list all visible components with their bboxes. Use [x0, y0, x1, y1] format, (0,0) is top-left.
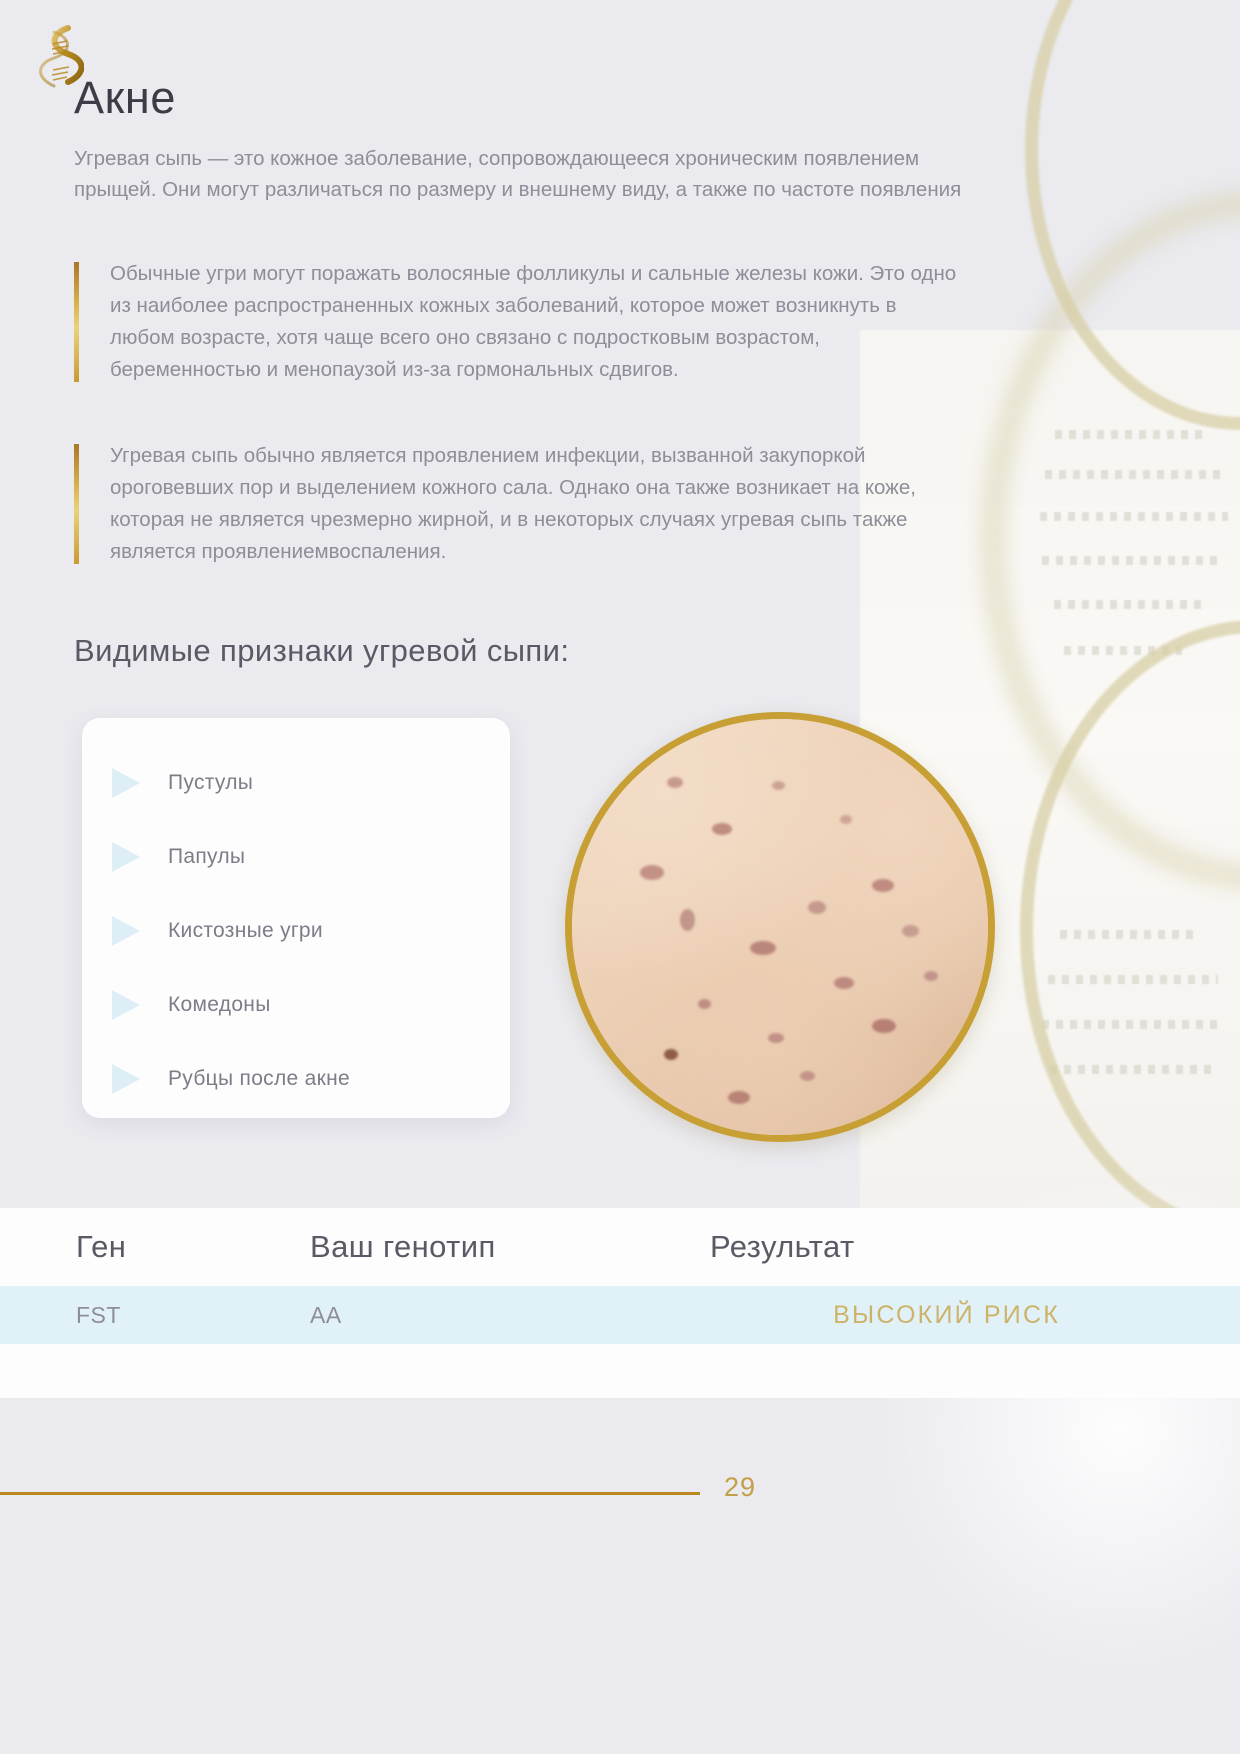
signs-list-card: Пустулы Папулы Кистозные угри Комедоны Р… [82, 718, 510, 1118]
list-item-label: Комедоны [168, 993, 271, 1017]
cell-gene: FST [0, 1302, 310, 1329]
footer-divider [0, 1492, 700, 1495]
list-item[interactable]: Пустулы [82, 746, 510, 820]
list-item-label: Папулы [168, 845, 245, 869]
intro-paragraph: Угревая сыпь — это кожное заболевание, с… [74, 143, 964, 205]
triangle-right-icon [112, 990, 140, 1020]
report-page: Акне Угревая сыпь — это кожное заболеван… [0, 0, 1240, 1754]
column-header-gene: Ген [0, 1229, 310, 1265]
result-table: Ген Ваш генотип Результат FST AA ВЫСОКИЙ… [0, 1208, 1240, 1398]
list-item-label: Пустулы [168, 771, 253, 795]
column-header-result: Результат [710, 1229, 1240, 1265]
table-bottom-band [0, 1344, 1240, 1398]
list-item[interactable]: Комедоны [82, 968, 510, 1042]
triangle-right-icon [112, 842, 140, 872]
status-badge: ВЫСОКИЙ РИСК [710, 1301, 1240, 1330]
list-item[interactable]: Папулы [82, 820, 510, 894]
table-header-row: Ген Ваш генотип Результат [0, 1208, 1240, 1286]
list-item-label: Кистозные угри [168, 919, 323, 943]
quote-block-1: Обычные угри могут поражать волосяные фо… [74, 258, 964, 386]
list-item[interactable]: Кистозные угри [82, 894, 510, 968]
quote-block-2: Угревая сыпь обычно является проявлением… [74, 440, 964, 568]
acne-skin-photo [565, 712, 995, 1142]
triangle-right-icon [112, 768, 140, 798]
table-row: FST AA ВЫСОКИЙ РИСК [0, 1286, 1240, 1344]
page-number: 29 [724, 1472, 756, 1503]
column-header-genotype: Ваш генотип [310, 1229, 710, 1265]
triangle-right-icon [112, 916, 140, 946]
list-item[interactable]: Рубцы после акне [82, 1042, 510, 1116]
signs-section-heading: Видимые признаки угревой сыпи: [74, 633, 569, 669]
page-title: Акне [74, 72, 176, 124]
triangle-right-icon [112, 1064, 140, 1094]
cell-genotype: AA [310, 1302, 710, 1329]
list-item-label: Рубцы после акне [168, 1067, 350, 1091]
